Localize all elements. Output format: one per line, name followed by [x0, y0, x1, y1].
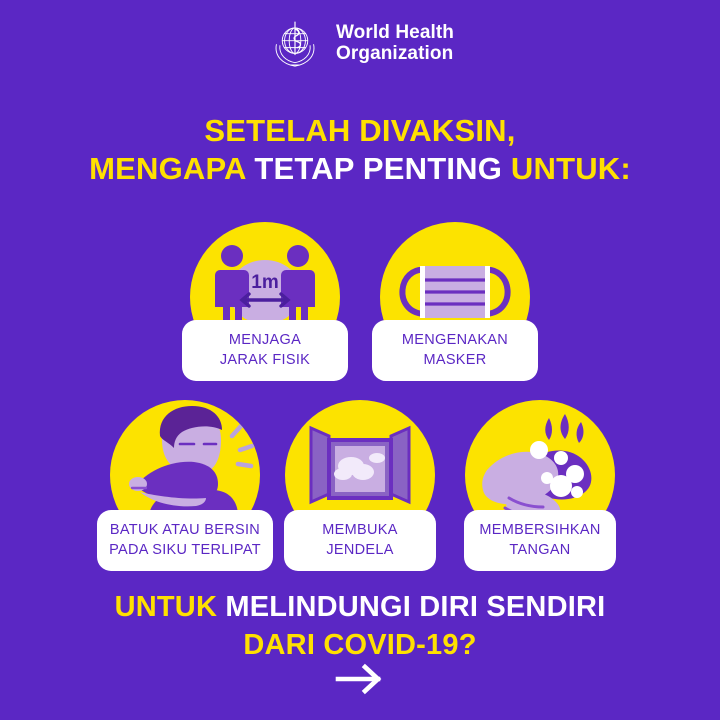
- measure-label-line1: BATUK ATAU BERSIN: [105, 520, 265, 540]
- headline-mengapa: MENGAPA: [89, 151, 245, 186]
- measure-label-line2: PADA SIKU TERLIPAT: [105, 540, 265, 560]
- measure-label-line2: MASKER: [380, 350, 530, 370]
- who-emblem-icon: [266, 14, 324, 72]
- headline-bottom: UNTUK MELINDUNGI DIRI SENDIRI DARI COVID…: [0, 588, 720, 664]
- footer-line1: UNTUK MELINDUNGI DIRI SENDIRI: [0, 588, 720, 626]
- measure-label-line2: TANGAN: [472, 540, 608, 560]
- measure-label-pill: MENGENAKAN MASKER: [372, 320, 538, 381]
- arrow-right-icon[interactable]: [332, 662, 388, 696]
- headline-tetap-penting: TETAP PENTING: [254, 151, 502, 186]
- infographic-canvas: World Health Organization SETELAH DIVAKS…: [0, 0, 720, 720]
- measure-label-line2: JARAK FISIK: [190, 350, 340, 370]
- headline-top: SETELAH DIVAKSIN, MENGAPA TETAP PENTING …: [0, 112, 720, 188]
- measure-label-line2: JENDELA: [292, 540, 428, 560]
- footer-untuk: UNTUK: [115, 591, 218, 623]
- measure-label-line1: MEMBERSIHKAN: [472, 520, 608, 540]
- distance-label: 1m: [251, 272, 278, 293]
- next-arrow[interactable]: [0, 662, 720, 696]
- who-wordmark: World Health Organization: [336, 22, 454, 65]
- measure-label-pill: MENJAGA JARAK FISIK: [182, 320, 348, 381]
- headline-line1-text: SETELAH DIVAKSIN,: [204, 113, 515, 148]
- who-org-line2: Organization: [336, 43, 454, 64]
- who-org-line1: World Health: [336, 22, 454, 43]
- measure-label-pill: MEMBUKA JENDELA: [284, 510, 436, 571]
- measure-label-line1: MEMBUKA: [292, 520, 428, 540]
- measure-label-pill: MEMBERSIHKAN TANGAN: [464, 510, 616, 571]
- footer-melindungi: MELINDUNGI DIRI SENDIRI: [225, 591, 605, 623]
- measure-label-line1: MENGENAKAN: [380, 330, 530, 350]
- who-logo: World Health Organization: [0, 14, 720, 72]
- footer-line2: DARI COVID-19?: [0, 626, 720, 664]
- footer-covid: DARI COVID-19?: [243, 629, 476, 661]
- headline-line2: MENGAPA TETAP PENTING UNTUK:: [0, 150, 720, 188]
- measure-label-pill: BATUK ATAU BERSIN PADA SIKU TERLIPAT: [97, 510, 273, 571]
- measure-label-line1: MENJAGA: [190, 330, 340, 350]
- headline-line1: SETELAH DIVAKSIN,: [0, 112, 720, 150]
- headline-untuk: UNTUK:: [511, 151, 631, 186]
